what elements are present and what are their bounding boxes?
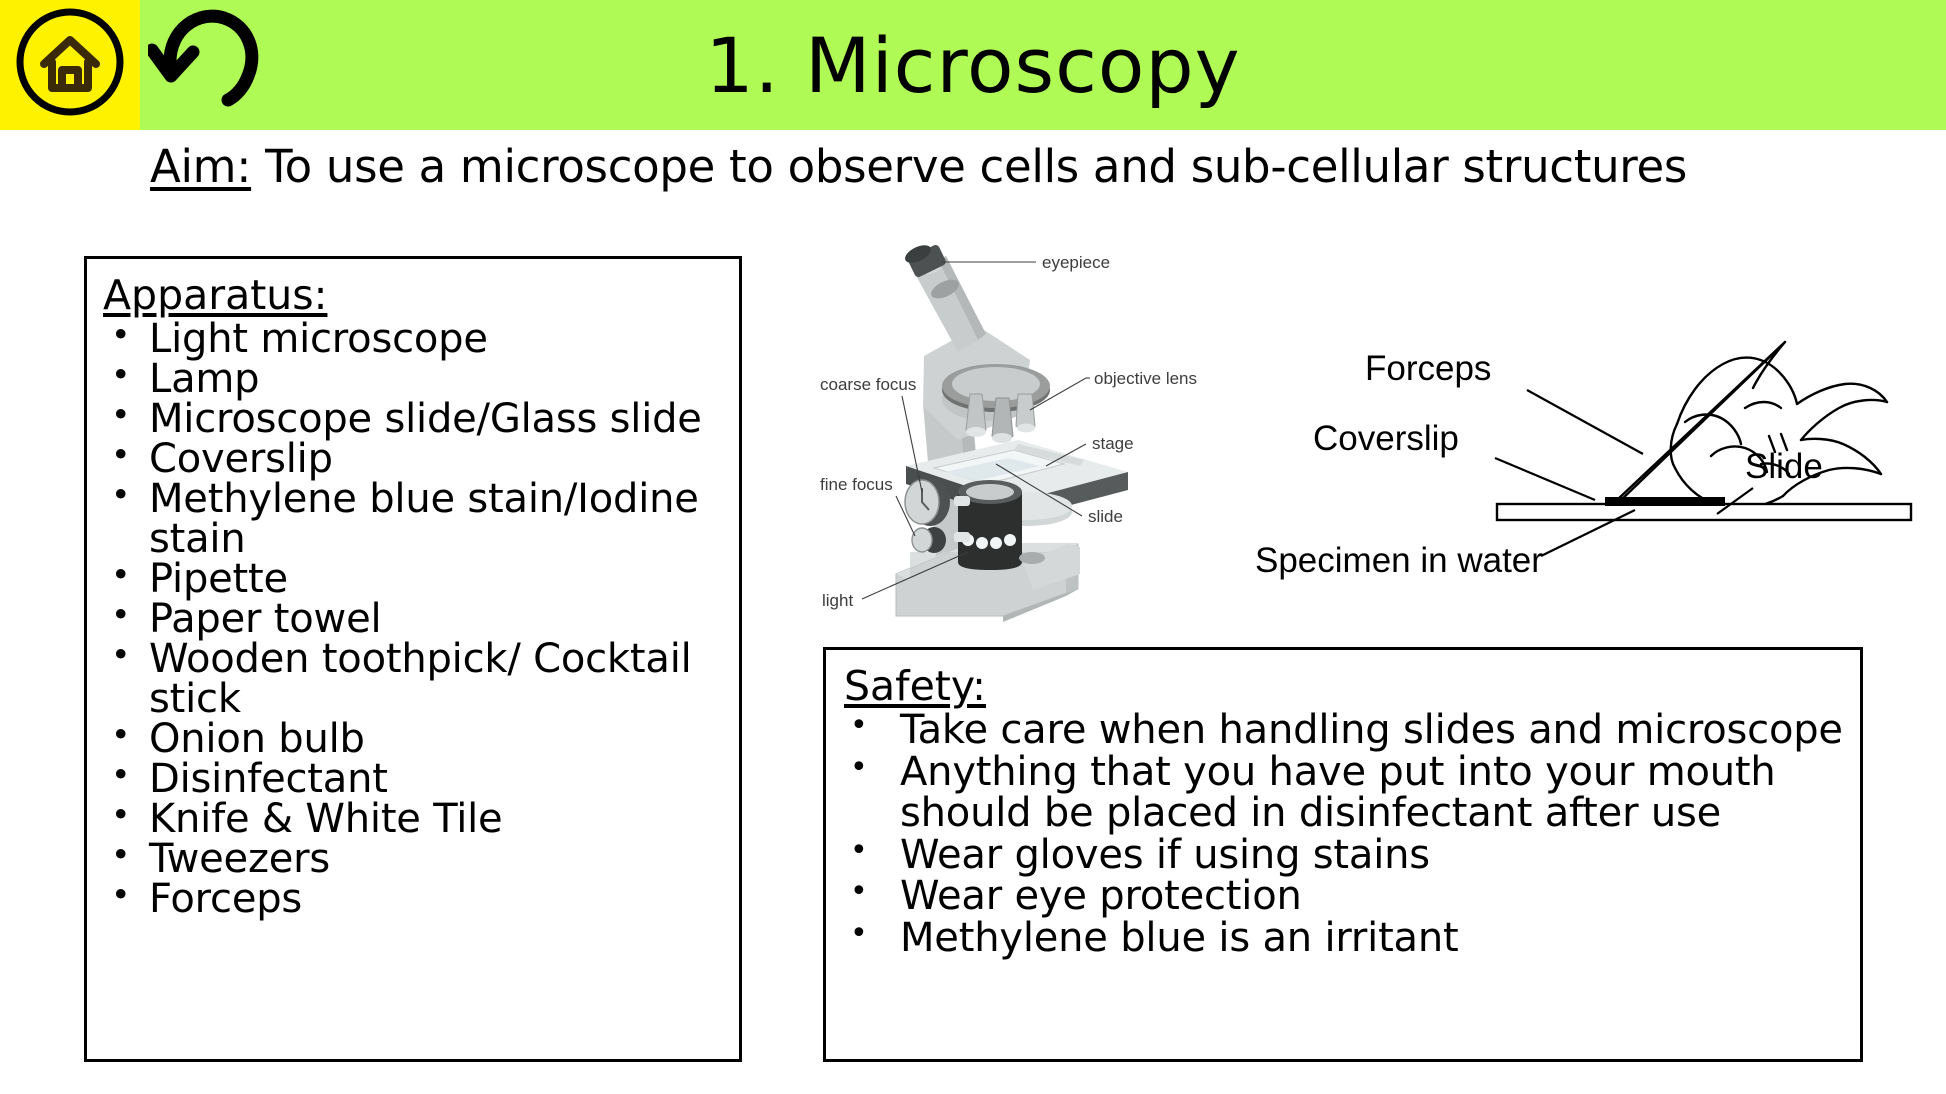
list-item: Methylene blue is an irritant — [844, 918, 1850, 959]
list-item: Methylene blue stain/Iodine stain — [103, 479, 729, 559]
coverslip-label-forceps: Forceps — [1365, 349, 1491, 388]
top-banner: 1. Microscopy — [0, 0, 1946, 130]
list-item: Lamp — [103, 359, 729, 399]
aim-label: Aim: — [150, 140, 251, 193]
list-item: Microscope slide/Glass slide — [103, 399, 729, 439]
page-title: 1. Microscopy — [0, 0, 1946, 130]
safety-heading: Safety: — [844, 664, 1850, 708]
list-item: Coverslip — [103, 439, 729, 479]
microscope-diagram: eyepiece objective lens stage slide coar… — [818, 244, 1268, 644]
list-item: Pipette — [103, 559, 729, 599]
apparatus-heading: Apparatus: — [103, 273, 729, 317]
list-item: Wear gloves if using stains — [844, 835, 1850, 876]
list-item: Forceps — [103, 879, 729, 919]
list-item: Light microscope — [103, 319, 729, 359]
coverslip-label-slide: Slide — [1745, 447, 1823, 486]
microscope-label-stage: stage — [1092, 434, 1134, 453]
microscope-label-slide: slide — [1088, 507, 1123, 526]
coverslip-label-coverslip: Coverslip — [1313, 419, 1459, 458]
apparatus-panel: Apparatus: Light microscope Lamp Microsc… — [84, 256, 742, 1062]
aim-text: To use a microscope to observe cells and… — [265, 140, 1687, 193]
home-icon[interactable] — [14, 6, 126, 118]
list-item: Wear eye protection — [844, 876, 1850, 917]
list-item: Paper towel — [103, 599, 729, 639]
safety-list: Take care when handling slides and micro… — [844, 710, 1850, 959]
list-item: Disinfectant — [103, 759, 729, 799]
list-item: Take care when handling slides and micro… — [844, 710, 1850, 751]
list-item: Knife & White Tile — [103, 799, 729, 839]
coverslip-diagram: Forceps Coverslip Slide Specimen in wate… — [1245, 272, 1945, 592]
back-arrow-icon[interactable] — [148, 4, 268, 119]
microscope-label-light: light — [822, 591, 853, 610]
list-item: Wooden toothpick/ Cocktail stick — [103, 639, 729, 719]
aim-line: Aim: To use a microscope to observe cell… — [150, 140, 1850, 193]
home-button[interactable] — [0, 0, 140, 130]
microscope-label-eyepiece: eyepiece — [1042, 253, 1110, 272]
microscope-label-objective-lens: objective lens — [1094, 369, 1197, 388]
safety-panel: Safety: Take care when handling slides a… — [823, 647, 1863, 1062]
list-item: Onion bulb — [103, 719, 729, 759]
coverslip-label-specimen: Specimen in water — [1255, 541, 1543, 580]
apparatus-list: Light microscope Lamp Microscope slide/G… — [103, 319, 729, 919]
list-item: Tweezers — [103, 839, 729, 879]
microscope-label-coarse-focus: coarse focus — [820, 375, 916, 394]
microscope-label-fine-focus: fine focus — [820, 475, 893, 494]
list-item: Anything that you have put into your mou… — [844, 752, 1850, 834]
